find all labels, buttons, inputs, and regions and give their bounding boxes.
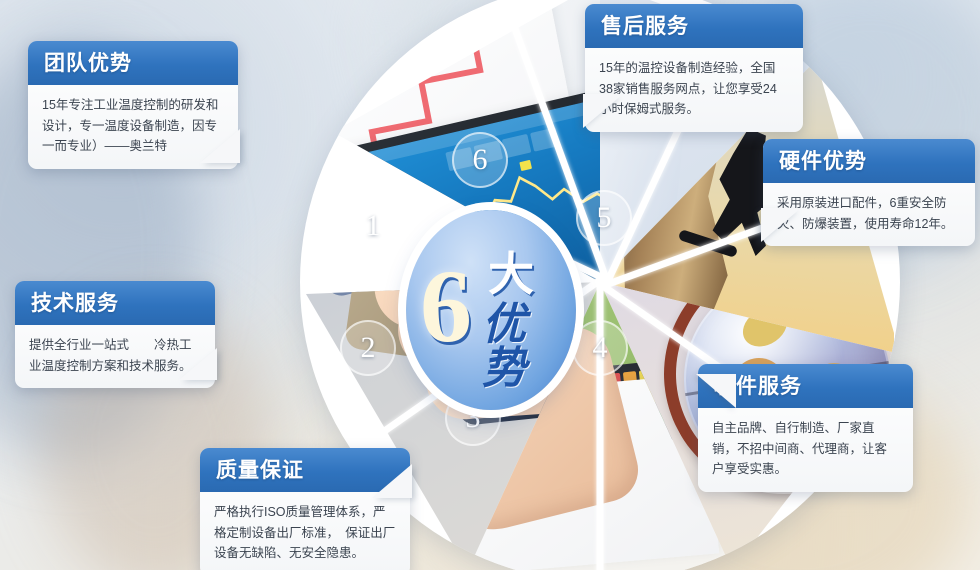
callout-hardware-tail	[761, 208, 801, 242]
callout-after-sales[interactable]: 售后服务 15年的温控设备制造经验，全国38家销售服务网点，让您享受24小时保姆…	[585, 4, 803, 132]
callout-quality-tail	[372, 464, 412, 498]
center-emblem: 6 大 优势	[406, 210, 576, 410]
callout-team-tail	[200, 129, 240, 163]
callout-quality-assurance[interactable]: 质量保证 严格执行ISO质量管理体系，严格定制设备出厂标准， 保证出厂设备无缺陷…	[200, 448, 410, 570]
callout-technical-tail	[179, 348, 217, 380]
segment-badge-2[interactable]: 2	[340, 320, 396, 376]
segment-badge-5[interactable]: 5	[576, 190, 632, 246]
center-word: 优势	[482, 303, 566, 391]
callout-after-sales-title: 售后服务	[585, 4, 803, 48]
callout-hardware-advantage[interactable]: 硬件优势 采用原装进口配件，6重安全防火、防爆装置，使用寿命12年。	[763, 139, 975, 246]
callout-team-title: 团队优势	[28, 41, 238, 85]
center-big-word: 大	[488, 251, 534, 297]
center-number: 6	[420, 255, 472, 359]
segment-badge-6[interactable]: 6	[452, 132, 508, 188]
segment-badge-1[interactable]: 1	[345, 198, 401, 254]
segment-badge-4[interactable]: 4	[572, 320, 628, 376]
callout-software-body: 自主品牌、自行制造、厂家直销，不招中间商、代理商，让客户享受实惠。	[698, 408, 913, 492]
callout-after-sales-tail	[583, 94, 623, 128]
callout-quality-body: 严格执行ISO质量管理体系，严格定制设备出厂标准， 保证出厂设备无缺陷、无安全隐…	[200, 492, 410, 570]
callout-technical-service[interactable]: 技术服务 提供全行业一站式 冷热工业温度控制方案和技术服务。	[15, 281, 215, 388]
callout-software-service[interactable]: 软件服务 自主品牌、自行制造、厂家直销，不招中间商、代理商，让客户享受实惠。	[698, 364, 913, 492]
callout-technical-title: 技术服务	[15, 281, 215, 325]
callout-team-advantage[interactable]: 团队优势 15年专注工业温度控制的研发和设计，专一温度设备制造，因专一而专业）—…	[28, 41, 238, 169]
callout-software-tail	[696, 374, 736, 408]
callout-hardware-title: 硬件优势	[763, 139, 975, 183]
